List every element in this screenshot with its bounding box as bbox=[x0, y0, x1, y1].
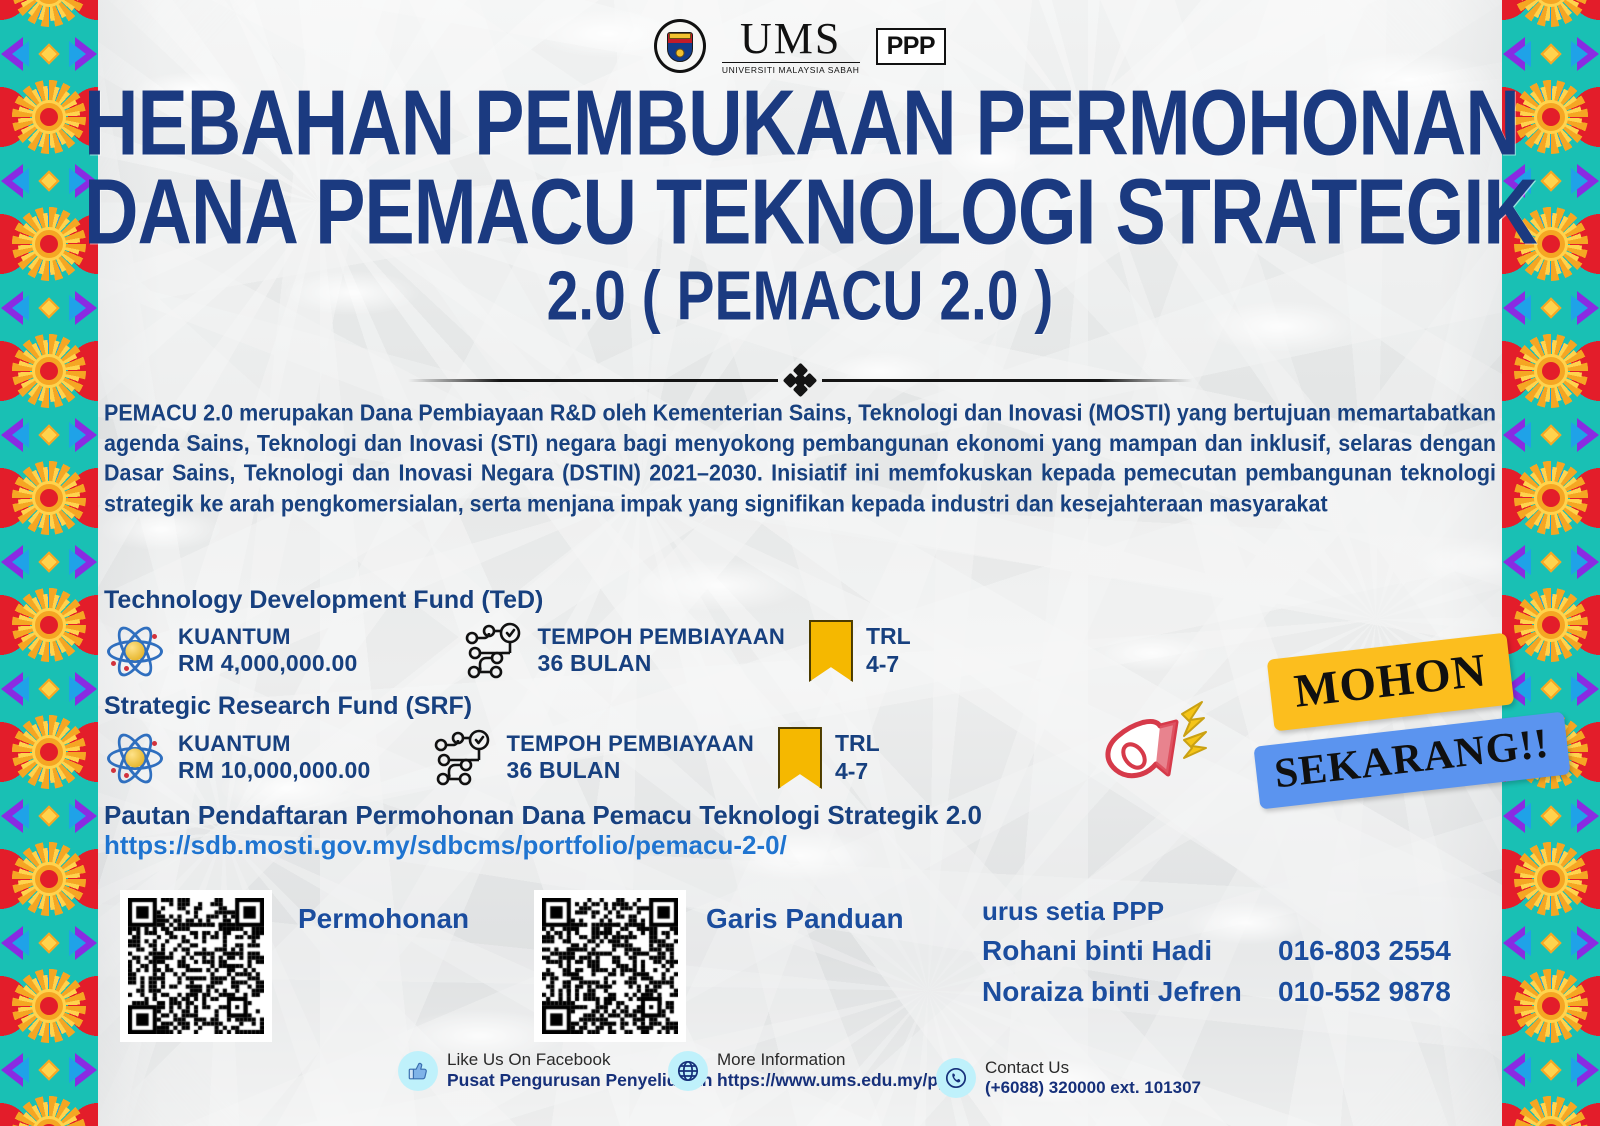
contact-name: Noraiza binti Jefren bbox=[982, 976, 1278, 1008]
headline-line-1: HEBAHAN PEMBUKAAN PERMOHONAN bbox=[84, 80, 1516, 167]
ums-wordmark: UMS UNIVERSITI MALAYSIA SABAH bbox=[722, 18, 860, 75]
qr-code-garis-panduan[interactable] bbox=[534, 890, 686, 1042]
kuantum-block-srf: KUANTUM RM 10,000,000.00 bbox=[178, 731, 370, 784]
footer-web-title: More Information bbox=[717, 1050, 959, 1070]
footer-web-value: https://www.ums.edu.my/ppp bbox=[717, 1070, 959, 1091]
trl-value: 4-7 bbox=[835, 758, 880, 786]
thumbs-up-icon bbox=[398, 1051, 438, 1091]
fleuron-icon bbox=[785, 365, 815, 395]
footer-contact[interactable]: Contact Us (+6088) 320000 ext. 101307 bbox=[936, 1058, 1201, 1099]
phone-icon bbox=[936, 1058, 976, 1098]
qr-image bbox=[542, 898, 678, 1034]
footer-bar: Like Us On Facebook Pusat Pengurusan Pen… bbox=[98, 1044, 1502, 1118]
kuantum-label: KUANTUM bbox=[178, 624, 357, 650]
trl-label: TRL bbox=[835, 730, 880, 758]
secretariat-heading: urus setia PPP bbox=[982, 896, 1451, 927]
tempoh-block-ted: TEMPOH PEMBIAYAAN 36 BULAN bbox=[537, 624, 784, 677]
contact-phone: 016-803 2554 bbox=[1278, 935, 1451, 967]
fund-title-ted: Technology Development Fund (TeD) bbox=[104, 586, 543, 615]
divider-ornament bbox=[98, 365, 1502, 395]
fund-title-srf: Strategic Research Fund (SRF) bbox=[104, 692, 472, 721]
footer-contact-value: (+6088) 320000 ext. 101307 bbox=[985, 1078, 1201, 1098]
tempoh-value: 36 BULAN bbox=[506, 757, 753, 784]
ppp-badge: PPP bbox=[876, 28, 947, 65]
secretariat-block: urus setia PPP Rohani binti Hadi 016-803… bbox=[982, 896, 1451, 1017]
page-title: HEBAHAN PEMBUKAAN PERMOHONAN DANA PEMACU… bbox=[98, 80, 1502, 319]
megaphone-icon bbox=[1098, 688, 1218, 793]
bookmark-icon bbox=[809, 620, 853, 682]
tempoh-value: 36 BULAN bbox=[537, 650, 784, 677]
kuantum-value: RM 10,000,000.00 bbox=[178, 757, 370, 784]
logo-row: UMS UNIVERSITI MALAYSIA SABAH PPP bbox=[98, 18, 1502, 75]
headline-line-2: DANA PEMACU TEKNOLOGI STRATEGIK bbox=[84, 169, 1516, 256]
trl-block-ted: TRL 4-7 bbox=[866, 623, 911, 678]
qr-code-permohonan[interactable] bbox=[120, 890, 272, 1042]
secretariat-contact-row: Noraiza binti Jefren 010-552 9878 bbox=[982, 976, 1451, 1008]
ums-crest-icon bbox=[654, 19, 706, 73]
registration-url-link[interactable]: https://sdb.mosti.gov.my/sdbcms/portfoli… bbox=[104, 830, 787, 861]
qr-image bbox=[128, 898, 264, 1034]
tempoh-label: TEMPOH PEMBIAYAAN bbox=[506, 731, 753, 757]
contact-name: Rohani binti Hadi bbox=[982, 935, 1278, 967]
trl-block-srf: TRL 4-7 bbox=[835, 730, 880, 785]
ums-abbr: UMS bbox=[740, 18, 841, 60]
poster-content: UMS UNIVERSITI MALAYSIA SABAH PPP HEBAHA… bbox=[98, 0, 1502, 1126]
intro-paragraph: PEMACU 2.0 merupakan Dana Pembiayaan R&D… bbox=[104, 398, 1496, 519]
bookmark-icon bbox=[778, 727, 822, 789]
registration-label: Pautan Pendaftaran Permohonan Dana Pemac… bbox=[104, 800, 982, 831]
atom-icon bbox=[104, 622, 166, 680]
trl-value: 4-7 bbox=[866, 651, 911, 679]
qr-label-garis-panduan: Garis Panduan bbox=[706, 903, 904, 935]
qr-label-permohonan: Permohonan bbox=[298, 903, 469, 935]
headline-line-3: 2.0 ( PEMACU 2.0 ) bbox=[98, 262, 1502, 332]
kuantum-block-ted: KUANTUM RM 4,000,000.00 bbox=[178, 624, 357, 677]
footer-website[interactable]: More Information https://www.ums.edu.my/… bbox=[668, 1050, 959, 1091]
tempoh-block-srf: TEMPOH PEMBIAYAAN 36 BULAN bbox=[506, 731, 753, 784]
workflow-icon bbox=[432, 729, 494, 787]
kuantum-label: KUANTUM bbox=[178, 731, 370, 757]
poster-root: UMS UNIVERSITI MALAYSIA SABAH PPP HEBAHA… bbox=[0, 0, 1600, 1126]
workflow-icon bbox=[463, 622, 525, 680]
trl-label: TRL bbox=[866, 623, 911, 651]
footer-facebook[interactable]: Like Us On Facebook Pusat Pengurusan Pen… bbox=[398, 1050, 713, 1091]
footer-contact-title: Contact Us bbox=[985, 1058, 1201, 1078]
atom-icon bbox=[104, 729, 166, 787]
globe-icon bbox=[668, 1051, 708, 1091]
secretariat-contact-row: Rohani binti Hadi 016-803 2554 bbox=[982, 935, 1451, 967]
contact-phone: 010-552 9878 bbox=[1278, 976, 1451, 1008]
kuantum-value: RM 4,000,000.00 bbox=[178, 650, 357, 677]
tempoh-label: TEMPOH PEMBIAYAAN bbox=[537, 624, 784, 650]
